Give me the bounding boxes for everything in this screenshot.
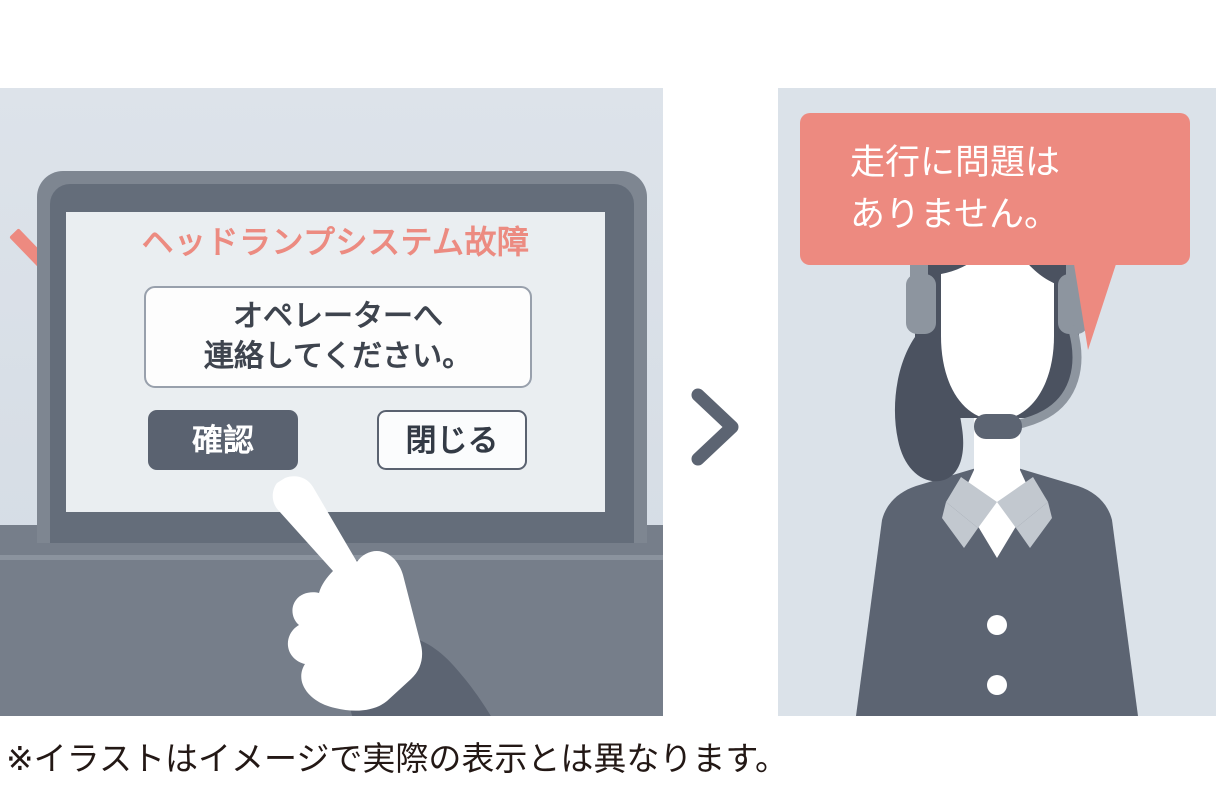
- jacket-button: [987, 615, 1007, 635]
- close-button[interactable]: 閉じる: [377, 410, 527, 470]
- confirm-button[interactable]: 確認: [148, 410, 298, 470]
- operator-response-panel: 走行に問題は ありません。: [778, 88, 1216, 716]
- chevron-right-icon: [686, 385, 746, 470]
- message-line-1: オペレーターへ: [233, 297, 443, 337]
- footnote-caption: ※イラストはイメージで実際の表示とは異なります。: [6, 742, 788, 775]
- illustration-stage: ヘッドランプシステム故障 オペレーターへ 連絡してください。 確認 閉じる: [0, 0, 1216, 810]
- speech-bubble: 走行に問題は ありません。: [800, 113, 1190, 265]
- dashboard-base: [0, 525, 663, 716]
- speech-bubble-line-2: ありません。: [850, 189, 1190, 241]
- message-line-2: 連絡してください。: [204, 337, 472, 377]
- message-box: オペレーターへ 連絡してください。: [144, 286, 532, 388]
- monitor-screen: ヘッドランプシステム故障 オペレーターへ 連絡してください。 確認 閉じる: [66, 212, 605, 512]
- vehicle-display-panel: ヘッドランプシステム故障 オペレーターへ 連絡してください。 確認 閉じる: [0, 88, 663, 716]
- screen-button-row: 確認 閉じる: [66, 410, 605, 472]
- dashboard-seam-line: [0, 555, 663, 560]
- jacket-button: [987, 675, 1007, 695]
- error-title: ヘッドランプシステム故障: [66, 226, 605, 258]
- speech-bubble-line-1: 走行に問題は: [850, 137, 1190, 189]
